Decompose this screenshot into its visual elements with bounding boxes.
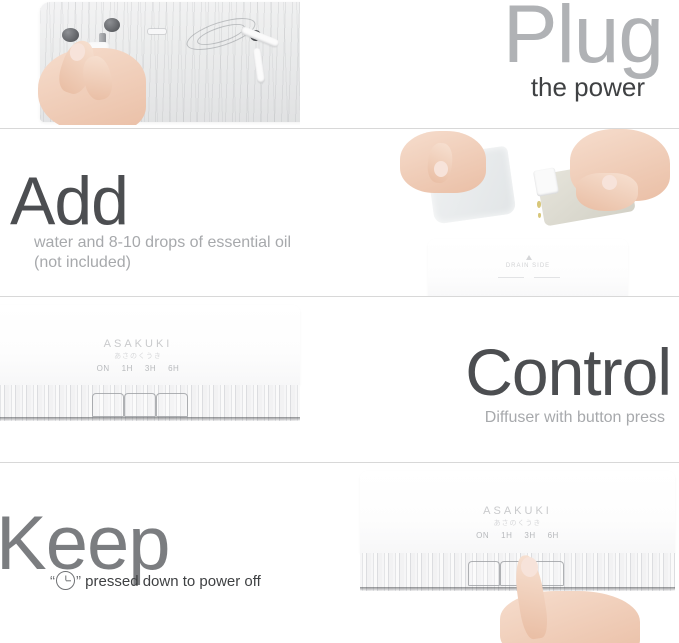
control-label-on[interactable]: ON	[476, 531, 489, 540]
diffuser-button-2[interactable]	[124, 393, 156, 417]
adapter-port	[104, 18, 120, 32]
fingernail	[602, 175, 617, 190]
drain-rule	[534, 277, 560, 278]
diffuser-front: ASAKUKI あさのくうき ON 1H 3H 6H	[0, 305, 300, 421]
add-scene-photo: DRAIN SIDE	[380, 129, 679, 296]
infographic-sheet: Plug the power DRAIN SIDE	[0, 0, 679, 643]
diffuser-button-1[interactable]	[92, 393, 124, 417]
brand-name: ASAKUKI	[0, 338, 300, 350]
plug-scene-photo	[0, 0, 300, 125]
control-label-1h[interactable]: 1H	[122, 364, 133, 373]
keep-scene-photo: ASAKUKI あさのくうき ON 1H 3H 6H	[350, 463, 679, 643]
bottle-cap	[533, 167, 559, 196]
step-subtitle-control: Diffuser with button press	[485, 407, 665, 429]
step-subtitle-keep: “” pressed down to power off	[50, 571, 261, 592]
step-subtitle-keep-text: pressed down to power off	[85, 573, 261, 590]
adapter-port	[62, 28, 79, 42]
brand-name: ASAKUKI	[360, 505, 675, 517]
step-panel-add: DRAIN SIDE Add water and 8-10 drops of e…	[0, 129, 679, 296]
step-heading-plug: Plug	[503, 0, 663, 76]
brand-name-jp: あさのくうき	[0, 351, 300, 361]
control-label-1h[interactable]: 1H	[501, 531, 512, 540]
step-panel-plug: Plug the power	[0, 0, 679, 128]
quote-open: “	[50, 573, 55, 590]
step-panel-keep: ASAKUKI あさのくうき ON 1H 3H 6H Keep “”	[0, 463, 679, 643]
diffuser-body: DRAIN SIDE	[428, 239, 628, 296]
fingernail	[434, 161, 448, 177]
step-subtitle-add-line1: water and 8-10 drops of essential oil	[34, 232, 291, 254]
step-subtitle-plug: the power	[531, 70, 645, 105]
quote-close: ”	[76, 573, 81, 590]
control-label-6h[interactable]: 6H	[548, 531, 559, 540]
oil-drop	[537, 201, 541, 208]
step-subtitle-add-line2: (not included)	[34, 252, 131, 274]
control-scene-photo: ASAKUKI あさのくうき ON 1H 3H 6H	[0, 297, 320, 457]
diffuser-button-1[interactable]	[468, 561, 500, 586]
step-heading-control: Control	[465, 339, 671, 405]
drain-rule	[498, 277, 524, 278]
brand-name-jp: あさのくうき	[360, 518, 675, 528]
control-button-labels: ON 1H 3H 6H	[0, 364, 300, 373]
control-label-6h[interactable]: 6H	[168, 364, 179, 373]
control-button-labels: ON 1H 3H 6H	[360, 531, 675, 540]
drain-side-label: DRAIN SIDE	[428, 263, 628, 269]
vent-slot	[148, 29, 166, 34]
diffuser-base-shadow	[0, 417, 300, 421]
drain-arrow-icon	[526, 255, 532, 260]
clock-icon	[56, 571, 75, 590]
control-label-3h[interactable]: 3H	[524, 531, 535, 540]
oil-drop	[538, 213, 541, 218]
control-label-on[interactable]: ON	[97, 364, 110, 373]
step-heading-add: Add	[10, 167, 128, 235]
step-panel-control: ASAKUKI あさのくうき ON 1H 3H 6H Control Diffu…	[0, 297, 679, 462]
control-label-3h[interactable]: 3H	[145, 364, 156, 373]
diffuser-button-3[interactable]	[156, 393, 188, 417]
